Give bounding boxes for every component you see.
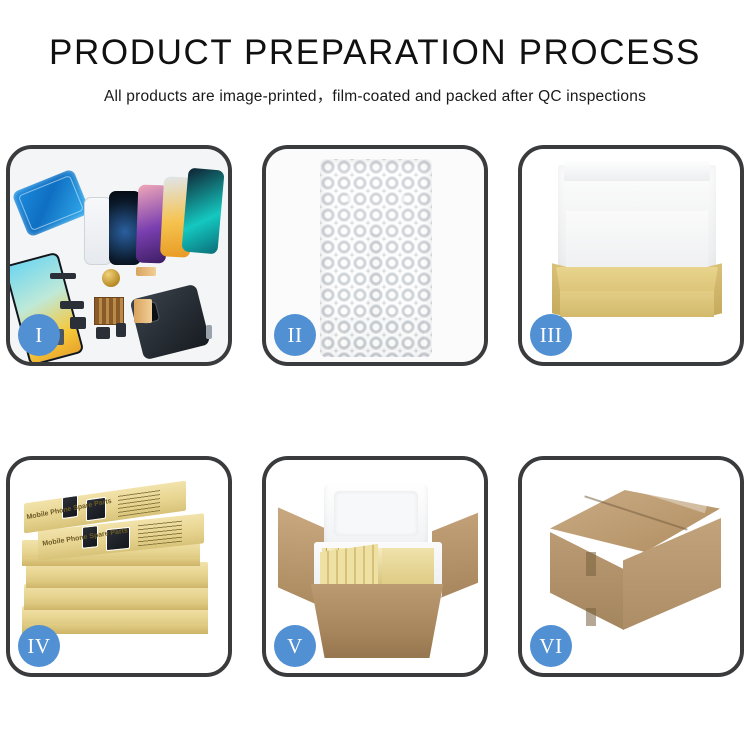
page-subtitle: All products are image-printed，film-coat… <box>0 84 750 106</box>
screw-set <box>206 325 212 339</box>
tempered-glass-screen <box>84 197 112 265</box>
flex-cable-a <box>136 267 156 276</box>
carton-left-tab-lower <box>586 608 596 626</box>
carton-body <box>308 584 446 658</box>
step-badge-5: V <box>274 625 316 667</box>
speaker-component <box>102 269 120 287</box>
step-badge-1: I <box>18 314 60 356</box>
small-part-a <box>50 273 76 279</box>
step-panel-3: III <box>518 145 744 366</box>
step-badge-6: VI <box>530 625 572 667</box>
small-part-b <box>60 301 84 309</box>
lid-text-lines-2 <box>138 520 182 547</box>
page-title: PRODUCT PREPARATION PROCESS <box>0 34 750 73</box>
step-badge-2: II <box>274 314 316 356</box>
chip-component <box>94 297 124 325</box>
small-part-e <box>116 323 126 337</box>
flex-cable-b <box>134 299 152 323</box>
step-panel-2: II <box>262 145 488 366</box>
carton-left-tab <box>586 552 596 576</box>
small-part-d <box>96 327 110 339</box>
step-badge-3: III <box>530 314 572 356</box>
yellow-box-front <box>560 291 714 317</box>
step-badge-4: IV <box>18 625 60 667</box>
foam-box-lid <box>324 482 428 550</box>
product-preparation-infographic: PRODUCT PREPARATION PROCESS All products… <box>0 0 750 750</box>
step-panel-4: Mobile Phone Spare Parts Mobile Phone Sp… <box>6 456 232 677</box>
small-part-c <box>70 317 86 329</box>
blue-protective-film <box>11 168 90 237</box>
stacked-box-5-side <box>24 602 208 610</box>
phone-display-teal <box>181 168 224 255</box>
stacked-box-4-side <box>26 580 208 588</box>
bubble-wrap-texture <box>320 159 432 357</box>
header: PRODUCT PREPARATION PROCESS All products… <box>0 34 750 106</box>
steps-grid: I II <box>6 145 744 677</box>
step-panel-1: I <box>6 145 232 366</box>
step-panel-5: V <box>262 456 488 677</box>
step-panel-6: VI <box>518 456 744 677</box>
